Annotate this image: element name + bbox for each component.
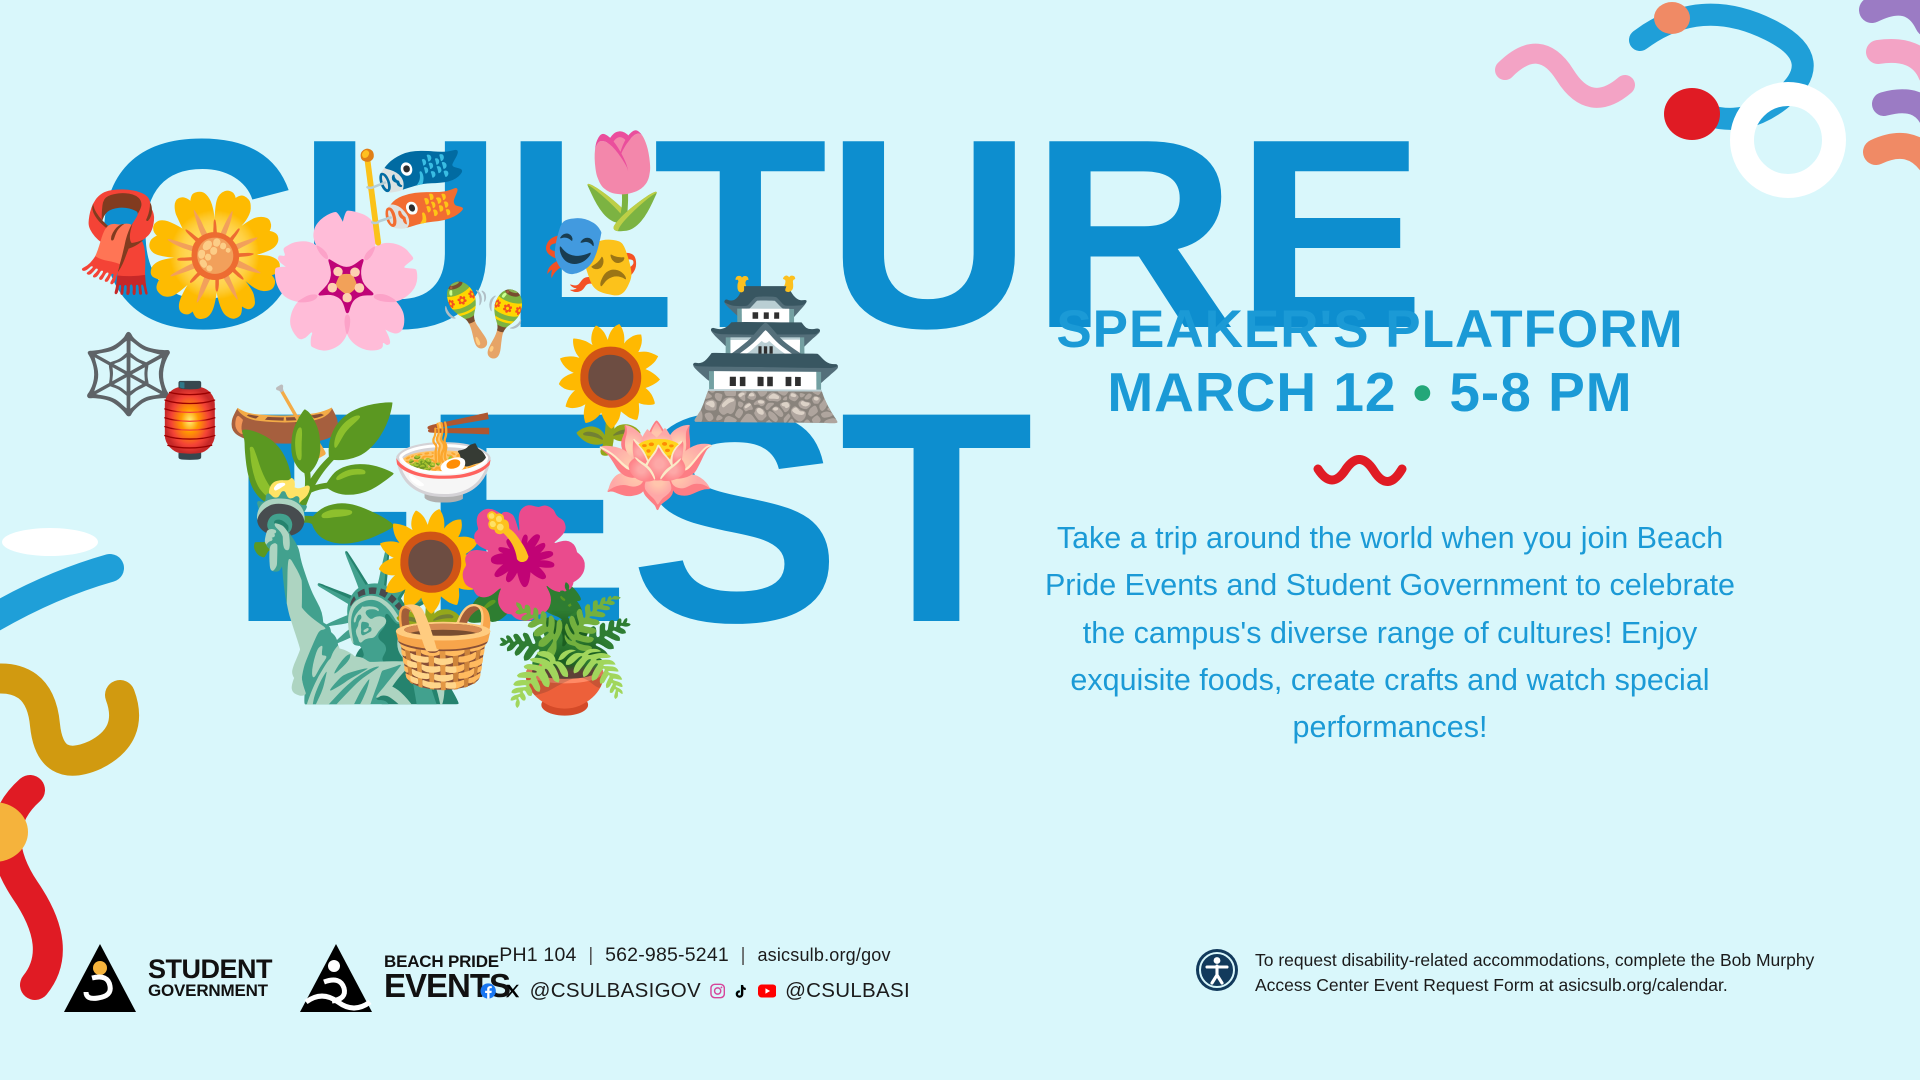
x-twitter-icon[interactable] (505, 977, 520, 1005)
accessibility-line-2: Access Center Event Request Form at asic… (1255, 973, 1814, 998)
headline-time: 5-8 PM (1449, 361, 1632, 423)
contact-room: PH1 104 (499, 944, 576, 966)
beach-pride-events-logo: BEACH PRIDE EVENTS (298, 942, 510, 1014)
social-row: @CSULBASIGOV @CSULBASI (480, 976, 910, 1006)
contact-separator-1: | (582, 944, 599, 966)
title-artwork: CULTURE FEST 🧣 🕸️ 🏮 🌼 🌸 🎏 🌷 🎭 🪇 🏯 🛶 🌻 🌿 … (0, 0, 1040, 1080)
lotus-flower-art: 🪷 (595, 415, 720, 515)
accessibility-line-1: To request disability-related accommodat… (1255, 948, 1814, 973)
headline-location: SPEAKER'S PLATFORM (1056, 300, 1683, 359)
student-government-logo: STUDENT GOVERNMENT (62, 942, 272, 1014)
squiggle-divider (1020, 455, 1720, 500)
student-government-logo-text: STUDENT GOVERNMENT (148, 957, 272, 999)
as-wave-triangle-icon (298, 942, 374, 1014)
handle-asi: @CSULBASI (785, 979, 910, 1003)
logo-row: STUDENT GOVERNMENT BEACH PRIDE EVENTS (62, 942, 510, 1014)
footer: STUDENT GOVERNMENT BEACH PRIDE EVENTS (0, 920, 1920, 1080)
handle-gov: @CSULBASIGOV (530, 979, 701, 1003)
facebook-icon[interactable] (480, 976, 496, 1006)
event-headline: SPEAKER'S PLATFORM MARCH 12 • 5-8 PM (1020, 300, 1720, 424)
flyer-canvas: CULTURE FEST 🧣 🕸️ 🏮 🌼 🌸 🎏 🌷 🎭 🪇 🏯 🛶 🌻 🌿 … (0, 0, 1920, 1080)
headline-date: MARCH 12 (1107, 361, 1396, 423)
maracas-art: 🪇 (440, 285, 527, 355)
headline-separator-dot: • (1413, 361, 1433, 423)
contact-website[interactable]: asicsulb.org/gov (757, 945, 890, 965)
as-triangle-icon (62, 942, 138, 1014)
contact-phone[interactable]: 562-985-5241 (605, 944, 729, 966)
instagram-icon[interactable] (710, 977, 725, 1005)
contact-separator-2: | (735, 944, 752, 966)
bunting-flags-art: 🎏 (355, 150, 470, 242)
red-squiggle-icon (1310, 455, 1430, 495)
woven-baskets-art: 🧺 (390, 600, 497, 686)
event-details: SPEAKER'S PLATFORM MARCH 12 • 5-8 PM Tak… (1020, 0, 1920, 1080)
carnival-mask-art: 🎭 (540, 215, 642, 297)
lantern-art: 🏮 (145, 385, 235, 457)
contact-line: PH1 104 | 562-985-5241 | asicsulb.org/go… (480, 944, 910, 967)
event-description: Take a trip around the world when you jo… (1020, 515, 1760, 751)
accessibility-icon (1195, 948, 1239, 992)
pagoda-art: 🏯 (685, 285, 847, 415)
youtube-icon[interactable] (758, 978, 777, 1004)
accessibility-notice: To request disability-related accommodat… (1195, 948, 1835, 999)
cyclamen-plant-art: 🪴 (490, 590, 639, 710)
contact-block: PH1 104 | 562-985-5241 | asicsulb.org/go… (480, 944, 910, 1006)
accessibility-text: To request disability-related accommodat… (1255, 948, 1814, 999)
tiktok-icon[interactable] (734, 977, 748, 1005)
